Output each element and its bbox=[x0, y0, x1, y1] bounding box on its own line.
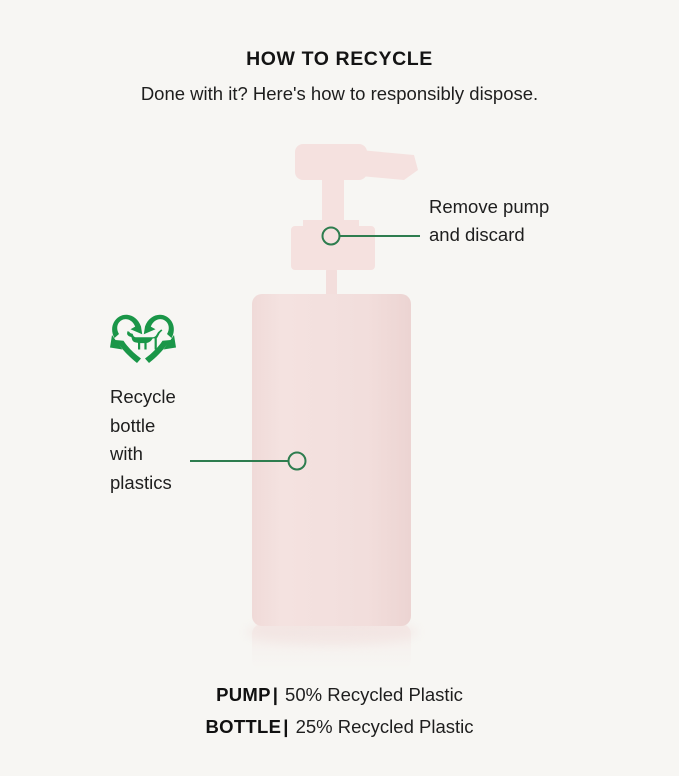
leader-line-pump bbox=[323, 228, 421, 245]
pump-dip-tube bbox=[326, 268, 337, 300]
spec-label-bottle: BOTTLE bbox=[205, 716, 281, 737]
pump-head-cap bbox=[295, 144, 367, 180]
callout-pump: Remove pump and discard bbox=[429, 193, 639, 249]
spec-separator-pump: | bbox=[271, 684, 280, 705]
callout-bottle-line4: plastics bbox=[110, 469, 210, 498]
page-title: HOW TO RECYCLE bbox=[0, 46, 679, 72]
recycle-heart-dog-icon bbox=[108, 309, 178, 371]
page-subtitle: Done with it? Here's how to responsibly … bbox=[0, 81, 679, 107]
spec-value-bottle: 25% Recycled Plastic bbox=[296, 716, 474, 737]
callout-bottle-line1: Recycle bbox=[110, 383, 210, 412]
bottle-shadow bbox=[246, 619, 418, 645]
callout-pump-line1: Remove pump bbox=[429, 193, 639, 221]
spec-value-pump: 50% Recycled Plastic bbox=[285, 684, 463, 705]
callout-bottle-line3: with bbox=[110, 440, 210, 469]
header: HOW TO RECYCLE Done with it? Here's how … bbox=[0, 46, 679, 107]
callout-pump-line2: and discard bbox=[429, 221, 639, 249]
spec-row-pump: PUMP| 50% Recycled Plastic bbox=[0, 679, 679, 711]
spec-separator-bottle: | bbox=[281, 716, 290, 737]
bottle-reflection bbox=[252, 624, 411, 670]
spec-label-pump: PUMP bbox=[216, 684, 271, 705]
material-specs: PUMP| 50% Recycled Plastic BOTTLE| 25% R… bbox=[0, 679, 679, 743]
spec-row-bottle: BOTTLE| 25% Recycled Plastic bbox=[0, 711, 679, 743]
callout-bottle: Recycle bottle with plastics bbox=[110, 383, 210, 497]
pump-neck bbox=[322, 178, 344, 224]
callout-bottle-line2: bottle bbox=[110, 412, 210, 441]
product-illustration bbox=[0, 0, 679, 776]
pump-collar bbox=[291, 220, 375, 270]
pump-spout bbox=[360, 150, 418, 180]
infographic-canvas: HOW TO RECYCLE Done with it? Here's how … bbox=[0, 0, 679, 776]
bottle-body bbox=[252, 294, 411, 626]
